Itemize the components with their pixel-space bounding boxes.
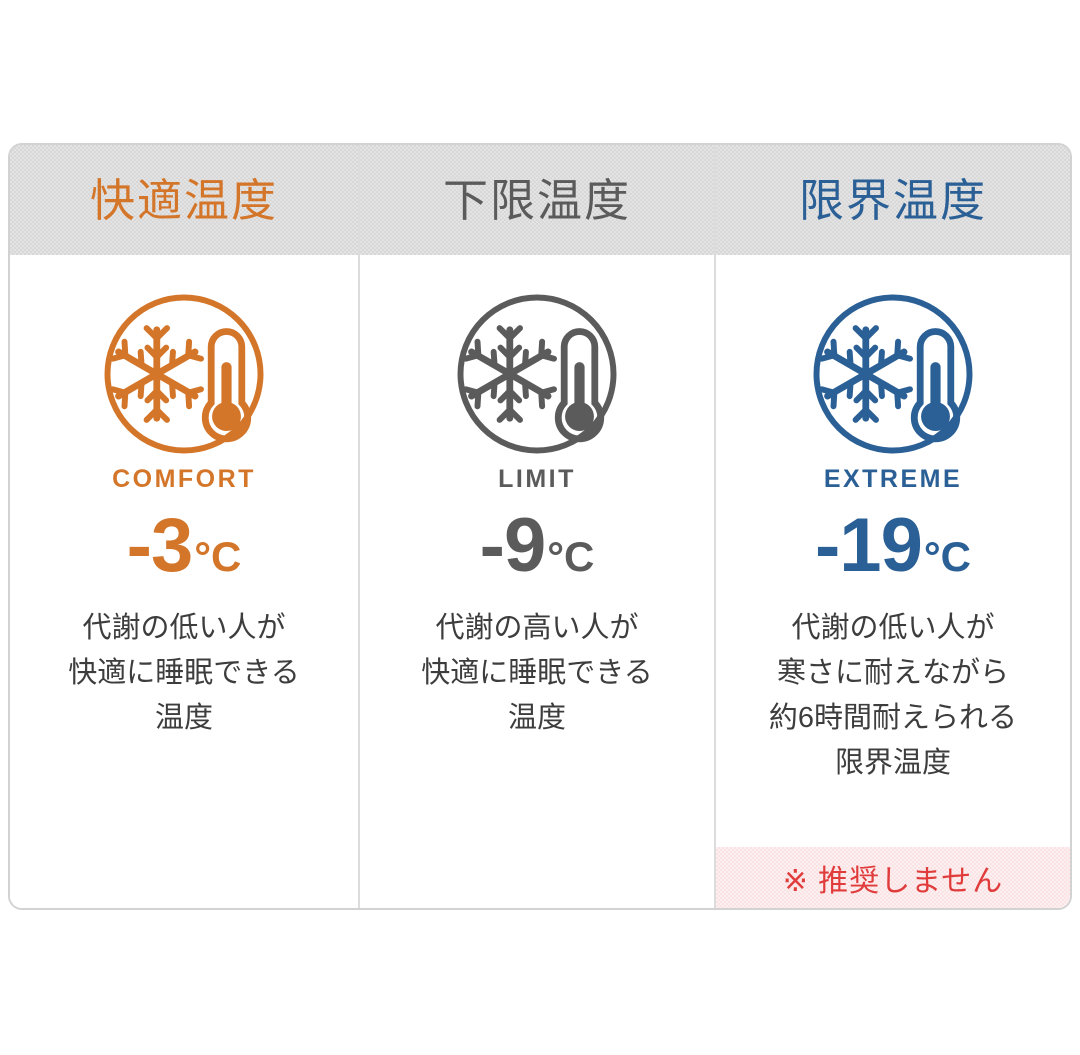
column-extreme: 限界温度 [716, 145, 1070, 908]
description-line: 代謝の高い人が [421, 606, 652, 651]
description-limit: 代謝の高い人が 快適に睡眠できる 温度 [421, 606, 652, 741]
temperature-value-limit: -9 °C [480, 508, 595, 584]
description-line: 快適に睡眠できる [421, 651, 652, 696]
description-line: 快適に睡眠できる [68, 651, 299, 696]
column-header-extreme: 限界温度 [716, 145, 1070, 255]
column-header-label: 限界温度 [799, 178, 987, 223]
description-line: 温度 [421, 696, 652, 741]
temperature-number: -19 [815, 508, 922, 584]
column-body-limit: LIMIT -9 °C 代謝の高い人が 快適に睡眠できる 温度 [360, 255, 714, 908]
warning-strip-extreme: ※ 推奨しません [716, 847, 1070, 908]
column-body-extreme: EXTREME -19 °C 代謝の低い人が 寒さに耐えながら 約6時間耐えられ… [716, 255, 1070, 908]
warning-text: ※ 推奨しません [783, 856, 1004, 900]
column-limit: 下限温度 [358, 145, 716, 908]
column-header-label: 下限温度 [443, 178, 631, 223]
temperature-unit: °C [547, 536, 594, 578]
description-extreme: 代謝の低い人が 寒さに耐えながら 約6時間耐えられる 限界温度 [769, 606, 1017, 786]
column-header-label: 快適温度 [90, 178, 278, 223]
snowflake-thermometer-icon [99, 289, 269, 459]
temperature-number: -9 [480, 508, 546, 584]
grade-label-comfort: COMFORT [112, 467, 256, 492]
temperature-value-extreme: -19 °C [815, 508, 971, 584]
description-comfort: 代謝の低い人が 快適に睡眠できる 温度 [68, 606, 299, 741]
temperature-unit: °C [924, 536, 971, 578]
grade-label-extreme: EXTREME [824, 467, 962, 492]
column-header-limit: 下限温度 [360, 145, 714, 255]
temperature-value-comfort: -3 °C [127, 508, 242, 584]
description-line: 限界温度 [769, 741, 1017, 786]
description-line: 約6時間耐えられる [769, 696, 1017, 741]
description-line: 代謝の低い人が [769, 606, 1017, 651]
column-comfort: 快適温度 [10, 145, 358, 908]
column-header-comfort: 快適温度 [10, 145, 358, 255]
grade-label-limit: LIMIT [498, 467, 576, 492]
temperature-rating-table: 快適温度 [8, 143, 1072, 910]
temperature-unit: °C [194, 536, 241, 578]
description-line: 寒さに耐えながら [769, 651, 1017, 696]
snowflake-thermometer-icon [808, 289, 978, 459]
snowflake-thermometer-icon [452, 289, 622, 459]
description-line: 温度 [68, 696, 299, 741]
description-line: 代謝の低い人が [68, 606, 299, 651]
temperature-number: -3 [127, 508, 193, 584]
column-body-comfort: COMFORT -3 °C 代謝の低い人が 快適に睡眠できる 温度 [10, 255, 358, 908]
